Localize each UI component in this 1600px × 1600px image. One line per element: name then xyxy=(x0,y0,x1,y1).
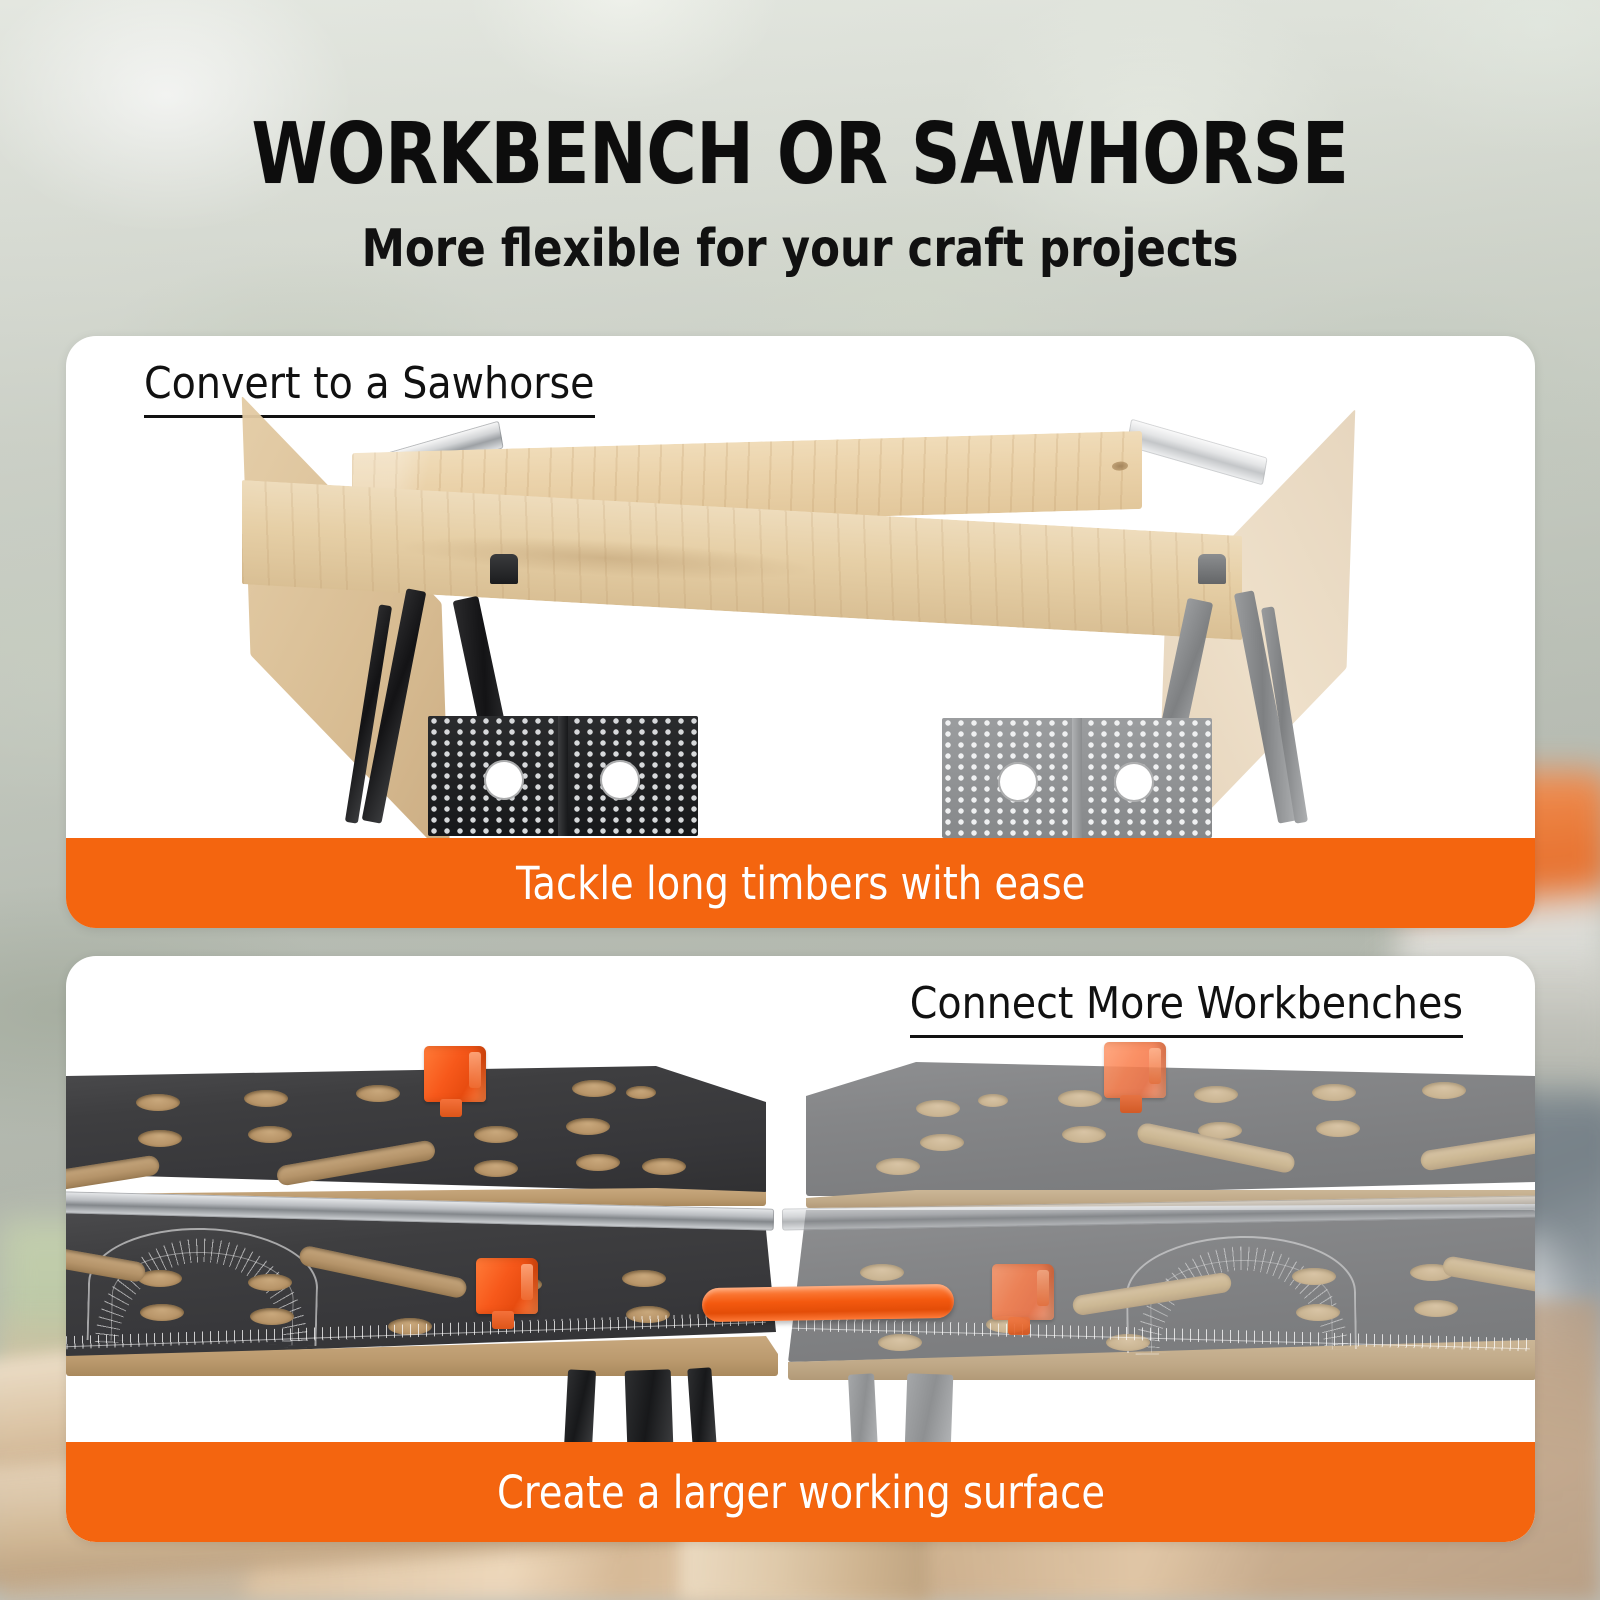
dog-hole xyxy=(248,1274,292,1291)
panel-connect-caption-bar: Create a larger working surface xyxy=(66,1442,1535,1542)
dog-hole xyxy=(566,1118,610,1135)
clamp-stem xyxy=(440,1099,462,1117)
panel-sawhorse-header: Convert to a Sawhorse xyxy=(66,336,1535,428)
dog-hole xyxy=(916,1100,960,1117)
dog-hole xyxy=(1316,1120,1360,1137)
dog-hole xyxy=(1296,1304,1340,1321)
mesh-hole xyxy=(1114,762,1154,802)
bench-leg-left xyxy=(625,1369,674,1449)
dog-hole xyxy=(576,1154,620,1171)
dog-hole xyxy=(136,1094,180,1111)
panel-connect-caption: Create a larger working surface xyxy=(497,1470,1105,1515)
mesh-hole xyxy=(484,760,524,800)
panel-connect-heading: Connect More Workbenches xyxy=(910,982,1463,1038)
clamp-peg xyxy=(476,1258,538,1314)
dog-hole xyxy=(1414,1300,1458,1317)
dog-hole xyxy=(642,1158,686,1175)
clamp-stem xyxy=(492,1311,514,1329)
dog-hole xyxy=(1058,1090,1102,1107)
dog-hole xyxy=(626,1086,656,1099)
dog-hole xyxy=(1062,1126,1106,1143)
dog-hole xyxy=(474,1126,518,1143)
sawhorse-illustration xyxy=(66,428,1535,838)
mesh-shelf-right xyxy=(942,718,1212,838)
clamp-peg xyxy=(992,1264,1054,1320)
clamp-stem xyxy=(1120,1095,1142,1113)
dog-hole xyxy=(140,1304,184,1321)
leg-bracket-left xyxy=(490,554,518,584)
mesh-hole xyxy=(998,762,1038,802)
clamp-stem xyxy=(1008,1317,1030,1335)
mesh-shelf-left xyxy=(428,716,698,836)
header: WORKBENCH OR SAWHORSE More flexible for … xyxy=(0,0,1600,275)
dog-hole xyxy=(572,1080,616,1097)
panel-sawhorse-caption-bar: Tackle long timbers with ease xyxy=(66,838,1535,928)
bench-leg-left xyxy=(564,1369,596,1450)
panel-sawhorse-caption: Tackle long timbers with ease xyxy=(516,861,1085,906)
panel-connect: Connect More Workbenches xyxy=(66,956,1535,1542)
page-title: WORKBENCH OR SAWHORSE xyxy=(80,112,1520,197)
dog-hole xyxy=(138,1130,182,1147)
connect-illustration xyxy=(66,1048,1535,1442)
dog-hole xyxy=(356,1085,400,1102)
panel-sawhorse: Convert to a Sawhorse xyxy=(66,336,1535,928)
dog-hole xyxy=(1194,1086,1238,1103)
mesh-divider xyxy=(1072,718,1082,838)
bench-connector-bar xyxy=(702,1284,955,1322)
dog-hole xyxy=(1312,1084,1356,1101)
bench-leg-right xyxy=(848,1373,878,1452)
timber-knot xyxy=(1112,461,1128,471)
bench-leg-right xyxy=(905,1373,954,1451)
dog-hole xyxy=(248,1126,292,1143)
dog-hole xyxy=(1422,1082,1466,1099)
dog-hole xyxy=(250,1308,294,1325)
dog-hole xyxy=(474,1160,518,1177)
panel-connect-header: Connect More Workbenches xyxy=(66,956,1535,1048)
clamp-peg xyxy=(1104,1042,1166,1098)
bench-leg-left xyxy=(687,1367,717,1448)
dog-hole xyxy=(1292,1268,1336,1285)
dog-hole xyxy=(876,1158,920,1175)
dog-hole xyxy=(878,1334,922,1351)
aluminium-rail-right xyxy=(1126,419,1267,486)
leg-bracket-right xyxy=(1198,554,1226,584)
dog-hole xyxy=(860,1264,904,1281)
mesh-hole xyxy=(600,760,640,800)
clamp-peg xyxy=(424,1046,486,1102)
dog-hole xyxy=(920,1134,964,1151)
dog-hole xyxy=(978,1094,1008,1107)
page-subtitle: More flexible for your craft projects xyxy=(56,223,1544,275)
dog-hole xyxy=(622,1270,666,1287)
dog-hole xyxy=(244,1090,288,1107)
mesh-divider xyxy=(558,716,568,836)
panel-sawhorse-heading: Convert to a Sawhorse xyxy=(144,362,595,418)
